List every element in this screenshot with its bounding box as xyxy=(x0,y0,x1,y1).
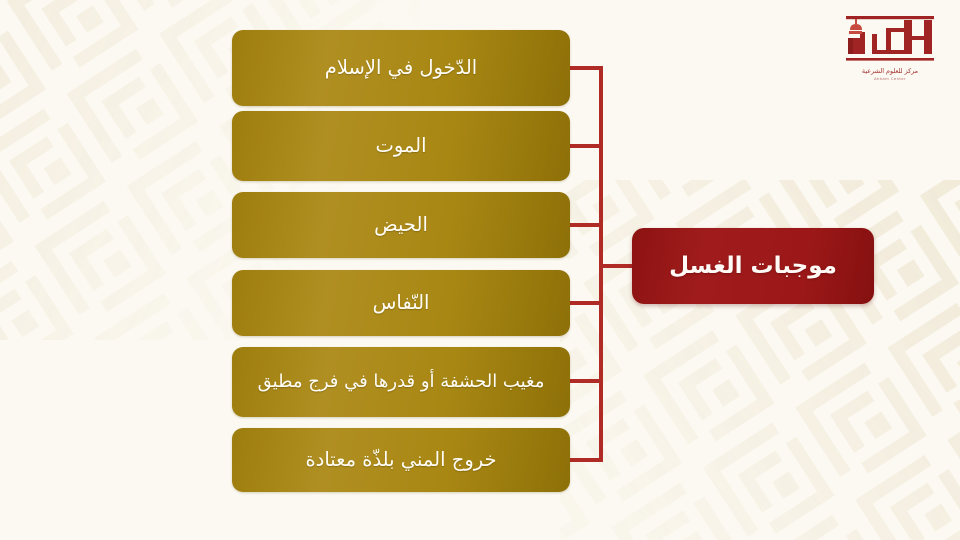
branch-label: خروج المني بلذّة معتادة xyxy=(289,447,512,473)
branch-node-death[interactable]: الموت xyxy=(232,111,570,181)
branch-node-hayd[interactable]: الحيض xyxy=(232,192,570,258)
brand-logo: مركز للعلوم الشرعية Ahkam Center xyxy=(834,14,946,92)
branch-label: النّفاس xyxy=(357,290,446,316)
ahkam-logo-icon xyxy=(838,14,942,66)
branch-node-islam[interactable]: الدّخول في الإسلام xyxy=(232,30,570,106)
root-node-label: موجبات الغسل xyxy=(669,253,837,279)
branch-label: مغيب الحشفة أو قدرها في فرج مطيق xyxy=(242,370,561,394)
diagram-canvas: الدّخول في الإسلام الموت الحيض النّفاس م… xyxy=(0,0,960,540)
branch-label: الدّخول في الإسلام xyxy=(309,55,493,81)
logo-latin-subtitle: Ahkam Center xyxy=(874,76,906,81)
root-node[interactable]: موجبات الغسل xyxy=(632,228,874,304)
branch-label: الموت xyxy=(359,133,442,159)
branch-node-nifas[interactable]: النّفاس xyxy=(232,270,570,336)
logo-subtitle: مركز للعلوم الشرعية xyxy=(862,67,918,75)
branch-label: الحيض xyxy=(358,212,444,238)
branch-node-maghib[interactable]: مغيب الحشفة أو قدرها في فرج مطيق xyxy=(232,347,570,417)
branch-node-mani[interactable]: خروج المني بلذّة معتادة xyxy=(232,428,570,492)
